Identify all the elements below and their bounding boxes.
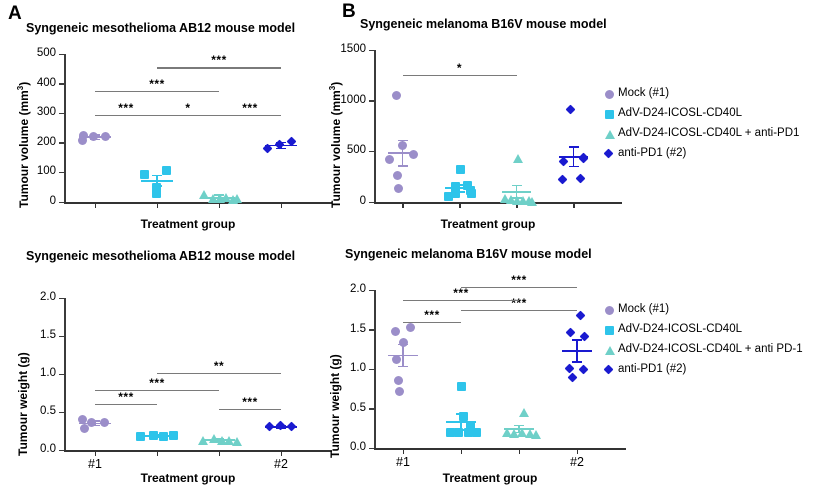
significance-line	[461, 310, 577, 311]
panel-letter-a: A	[8, 4, 22, 23]
data-point-triangle	[531, 430, 541, 439]
y-tick	[369, 151, 374, 153]
data-point-square	[149, 431, 158, 440]
y-axis-line	[64, 54, 66, 203]
data-point-square	[605, 326, 614, 335]
x-tick	[461, 449, 463, 454]
y-axis-line	[374, 290, 376, 449]
error-bar-cap	[398, 366, 408, 368]
data-point-circle	[394, 184, 403, 193]
data-point-square	[472, 428, 481, 437]
data-point-square	[152, 183, 161, 192]
data-point-diamond	[567, 373, 577, 383]
legend-label: anti-PD1 (#2)	[618, 148, 686, 160]
data-point-circle	[392, 91, 401, 100]
legend-marker-diamond-icon	[600, 361, 618, 379]
y-tick	[59, 450, 64, 452]
data-point-circle	[394, 376, 403, 385]
data-point-circle	[406, 323, 415, 332]
significance-stars: ***	[225, 396, 275, 408]
significance-line	[95, 91, 219, 92]
data-point-square	[605, 110, 614, 119]
data-point-diamond	[264, 421, 274, 431]
data-point-circle	[409, 150, 418, 159]
x-tick	[281, 451, 283, 456]
significance-line	[95, 115, 157, 116]
scatter-plot-b-top: 050010001500Tumour volume (mm3)Treatment…	[330, 36, 620, 236]
significance-line	[95, 404, 157, 405]
data-point-square	[169, 431, 178, 440]
error-bar-cap	[514, 425, 524, 427]
x-tick-label-n2: #2	[553, 456, 601, 469]
figure-root: A B Syngeneic mesothelioma AB12 mouse mo…	[0, 0, 825, 478]
legend-label: anti-PD1 (#2)	[618, 364, 686, 376]
significance-line	[219, 115, 281, 116]
y-tick	[59, 412, 64, 414]
legend-label: AdV-D24-ICOSL-CD40L	[618, 324, 742, 336]
error-bar	[573, 147, 575, 166]
data-point-circle	[605, 90, 614, 99]
significance-stars: ***	[436, 287, 486, 299]
legend-marker-square-icon	[600, 105, 618, 123]
significance-line	[157, 115, 219, 116]
legend-marker-diamond-icon	[600, 145, 618, 163]
x-tick	[573, 203, 575, 208]
chart-title-a-top: Syngeneic mesothelioma AB12 mouse model	[26, 22, 295, 35]
scatter-plot-a-bottom: 0.00.51.01.52.0#1#2Tumour weight (g)Trea…	[0, 268, 330, 478]
legend-top: Mock (#1)AdV-D24-ICOSL-CD40LAdV-D24-ICOS…	[600, 84, 799, 164]
data-point-diamond	[558, 175, 568, 185]
y-tick-label: 1.5	[18, 330, 56, 342]
data-point-circle	[605, 306, 614, 315]
significance-line	[95, 390, 219, 391]
data-point-triangle	[519, 408, 529, 417]
x-tick	[402, 203, 404, 208]
data-point-square	[140, 170, 149, 179]
y-tick	[59, 83, 64, 85]
x-axis-label: Treatment group	[418, 217, 558, 231]
significance-line	[219, 409, 281, 410]
legend-item-square[interactable]: AdV-D24-ICOSL-CD40L	[600, 320, 803, 340]
y-axis-label: Tumour volume (mm3)	[328, 82, 343, 208]
y-axis-label: Tumour volume (mm3)	[16, 82, 31, 208]
data-point-square	[456, 165, 465, 174]
significance-line	[461, 287, 577, 288]
data-point-diamond	[575, 173, 585, 183]
error-bar-cap	[572, 361, 582, 363]
x-tick	[157, 451, 159, 456]
y-tick	[369, 329, 374, 331]
error-bar-cap	[569, 166, 579, 168]
legend-item-triangle[interactable]: AdV-D24-ICOSL-CD40L + anti-PD1	[600, 124, 799, 144]
y-tick	[59, 202, 64, 204]
legend-item-circle[interactable]: Mock (#1)	[600, 300, 803, 320]
data-point-diamond	[575, 310, 585, 320]
data-point-diamond	[565, 363, 575, 373]
x-tick-label-n1: #1	[379, 456, 427, 469]
x-tick-label-n2: #2	[257, 458, 305, 471]
significance-stars: *	[435, 62, 485, 74]
significance-line	[157, 373, 281, 374]
legend-item-diamond[interactable]: anti-PD1 (#2)	[600, 360, 803, 380]
data-point-diamond	[565, 327, 575, 337]
legend-label: AdV-D24-ICOSL-CD40L + anti-PD1	[618, 128, 799, 140]
legend-marker-circle-icon	[600, 85, 618, 103]
data-point-square	[159, 432, 168, 441]
data-point-triangle	[198, 436, 208, 445]
data-point-square	[136, 432, 145, 441]
y-tick-label: 2.0	[328, 284, 366, 296]
data-point-triangle	[605, 346, 615, 355]
y-tick	[59, 336, 64, 338]
x-tick	[459, 203, 461, 208]
x-tick	[95, 203, 97, 208]
y-tick	[59, 374, 64, 376]
data-point-circle	[100, 418, 109, 427]
y-tick	[369, 202, 374, 204]
x-tick-label-n1: #1	[71, 458, 119, 471]
data-point-circle	[392, 355, 401, 364]
data-point-triangle	[605, 130, 615, 139]
legend-item-diamond[interactable]: anti-PD1 (#2)	[600, 144, 799, 164]
x-tick	[157, 203, 159, 208]
legend-item-triangle[interactable]: AdV-D24-ICOSL-CD40L + anti PD-1	[600, 340, 803, 360]
data-point-square	[454, 428, 463, 437]
legend-label: Mock (#1)	[618, 88, 669, 100]
significance-stars: **	[194, 360, 244, 372]
y-tick-label: 500	[18, 48, 56, 60]
data-point-diamond	[287, 421, 297, 431]
y-tick	[369, 369, 374, 371]
chart-title-b-bottom: Syngeneic melanoma B16V mouse model	[345, 248, 592, 261]
data-point-square	[444, 192, 453, 201]
y-tick	[59, 298, 64, 300]
x-axis-label: Treatment group	[420, 471, 560, 485]
data-point-circle	[398, 141, 407, 150]
y-axis-label: Tumour weight (g)	[16, 352, 30, 456]
error-bar-cap	[398, 165, 408, 167]
x-tick	[219, 203, 221, 208]
legend-label: AdV-D24-ICOSL-CD40L + anti PD-1	[618, 344, 803, 356]
data-point-diamond	[566, 104, 576, 114]
data-point-circle	[399, 338, 408, 347]
data-point-circle	[391, 327, 400, 336]
data-point-triangle	[513, 154, 523, 163]
y-tick	[369, 50, 374, 52]
error-bar-cap	[512, 185, 522, 187]
data-point-circle	[385, 155, 394, 164]
y-tick	[369, 290, 374, 292]
x-axis-label: Treatment group	[118, 471, 258, 485]
y-axis-line	[374, 50, 376, 203]
error-bar-cap	[152, 175, 162, 177]
y-tick	[59, 172, 64, 174]
data-point-diamond	[603, 148, 613, 158]
x-tick	[577, 449, 579, 454]
significance-line	[157, 67, 281, 68]
legend-label: AdV-D24-ICOSL-CD40L	[618, 108, 742, 120]
chart-title-b-top: Syngeneic melanoma B16V mouse model	[360, 18, 607, 31]
legend-marker-triangle-icon	[600, 341, 618, 359]
significance-stars: ***	[132, 78, 182, 90]
y-tick	[59, 54, 64, 56]
x-axis-line	[64, 450, 332, 452]
error-bar	[402, 345, 404, 367]
legend-item-square[interactable]: AdV-D24-ICOSL-CD40L	[600, 104, 799, 124]
data-point-triangle	[232, 437, 242, 446]
y-axis-label: Tumour weight (g)	[328, 354, 342, 458]
legend-label: Mock (#1)	[618, 304, 669, 316]
y-tick-label: 1500	[328, 44, 366, 56]
data-point-square	[457, 382, 466, 391]
data-point-diamond	[559, 157, 569, 167]
panel-letter-b: B	[342, 2, 356, 21]
y-tick	[59, 113, 64, 115]
data-point-square	[162, 166, 171, 175]
data-point-triangle	[527, 197, 537, 206]
x-tick	[403, 449, 405, 454]
data-point-diamond	[275, 420, 285, 430]
legend-marker-square-icon	[600, 321, 618, 339]
data-point-square	[467, 189, 476, 198]
x-tick	[281, 203, 283, 208]
significance-line	[403, 300, 519, 301]
significance-stars: ***	[494, 274, 544, 286]
x-axis-line	[64, 202, 332, 204]
x-axis-label: Treatment group	[118, 217, 258, 231]
significance-stars: ***	[101, 102, 151, 114]
y-tick	[369, 448, 374, 450]
data-point-circle	[89, 132, 98, 141]
y-axis-line	[64, 298, 66, 451]
data-point-circle	[395, 387, 404, 396]
chart-title-a-bottom: Syngeneic mesothelioma AB12 mouse model	[26, 250, 295, 263]
error-bar-cap	[572, 339, 582, 341]
legend-marker-circle-icon	[600, 301, 618, 319]
data-point-circle	[80, 424, 89, 433]
legend-item-circle[interactable]: Mock (#1)	[600, 84, 799, 104]
significance-stars: ***	[225, 102, 275, 114]
data-point-diamond	[603, 364, 613, 374]
error-bar	[576, 340, 578, 362]
significance-stars: ***	[101, 391, 151, 403]
x-tick	[519, 449, 521, 454]
y-tick-label: 1.5	[328, 324, 366, 336]
x-tick	[95, 451, 97, 456]
significance-stars: ***	[407, 309, 457, 321]
data-point-square	[459, 412, 468, 421]
y-tick-label: 2.0	[18, 292, 56, 304]
x-axis-line	[374, 202, 622, 204]
significance-line	[403, 75, 517, 76]
y-tick	[369, 100, 374, 102]
x-tick	[219, 451, 221, 456]
y-tick	[59, 142, 64, 144]
y-tick	[369, 408, 374, 410]
data-point-diamond	[579, 153, 589, 163]
significance-stars: ***	[132, 377, 182, 389]
data-point-circle	[78, 136, 87, 145]
data-point-circle	[393, 171, 402, 180]
data-point-circle	[101, 132, 110, 141]
legend-bottom: Mock (#1)AdV-D24-ICOSL-CD40LAdV-D24-ICOS…	[600, 300, 803, 380]
data-point-diamond	[578, 365, 588, 375]
legend-marker-triangle-icon	[600, 125, 618, 143]
scatter-plot-a-top: 0100200300400500Tumour volume (mm3)Treat…	[0, 36, 330, 236]
significance-stars: *	[163, 102, 213, 114]
x-axis-line	[374, 448, 626, 450]
significance-stars: ***	[194, 54, 244, 66]
error-bar-cap	[569, 146, 579, 148]
scatter-plot-b-bottom: 0.00.51.01.52.0#1#2Tumour weight (g)Trea…	[330, 268, 620, 478]
data-point-triangle	[232, 194, 242, 203]
